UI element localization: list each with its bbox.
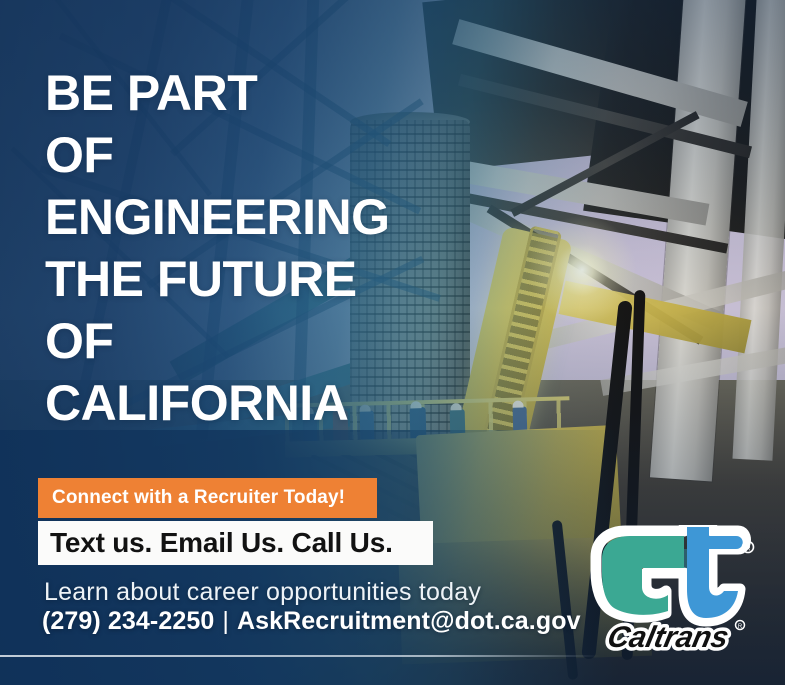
recruiter-cta-banner[interactable]: Connect with a Recruiter Today!: [38, 478, 377, 518]
caltrans-logo[interactable]: R Caltrans Caltrans R: [588, 525, 768, 655]
learn-more-text: Learn about career opportunities today: [44, 578, 481, 607]
contact-methods-banner: Text us. Email Us. Call Us.: [38, 521, 433, 565]
recruitment-ad-banner: BE PART OF ENGINEERING THE FUTURE OF CAL…: [0, 0, 785, 685]
headline-line-6: CALIFORNIA: [45, 372, 515, 434]
phone-number[interactable]: (279) 234-2250: [42, 607, 214, 635]
caltrans-wordmark: Caltrans Caltrans: [605, 621, 732, 654]
svg-text:R: R: [745, 546, 750, 553]
headline-line-3: ENGINEERING: [45, 186, 515, 248]
bottom-divider-line: [0, 655, 600, 657]
headline-line-5: OF: [45, 310, 515, 372]
contact-separator: |: [214, 607, 237, 635]
page-title: BE PART OF ENGINEERING THE FUTURE OF CAL…: [45, 62, 515, 434]
headline-line-4: THE FUTURE: [45, 248, 515, 310]
ct-overlap: [684, 549, 687, 568]
email-address[interactable]: AskRecruitment@dot.ca.gov: [237, 607, 581, 635]
contact-methods-label: Text us. Email Us. Call Us.: [50, 527, 393, 559]
svg-text:R: R: [738, 624, 743, 630]
contact-details: (279) 234-2250|AskRecruitment@dot.ca.gov: [42, 607, 581, 636]
recruiter-cta-label: Connect with a Recruiter Today!: [52, 487, 345, 509]
headline-line-1: BE PART: [45, 62, 515, 124]
headline-line-2: OF: [45, 124, 515, 186]
svg-text:Caltrans: Caltrans: [605, 621, 732, 654]
